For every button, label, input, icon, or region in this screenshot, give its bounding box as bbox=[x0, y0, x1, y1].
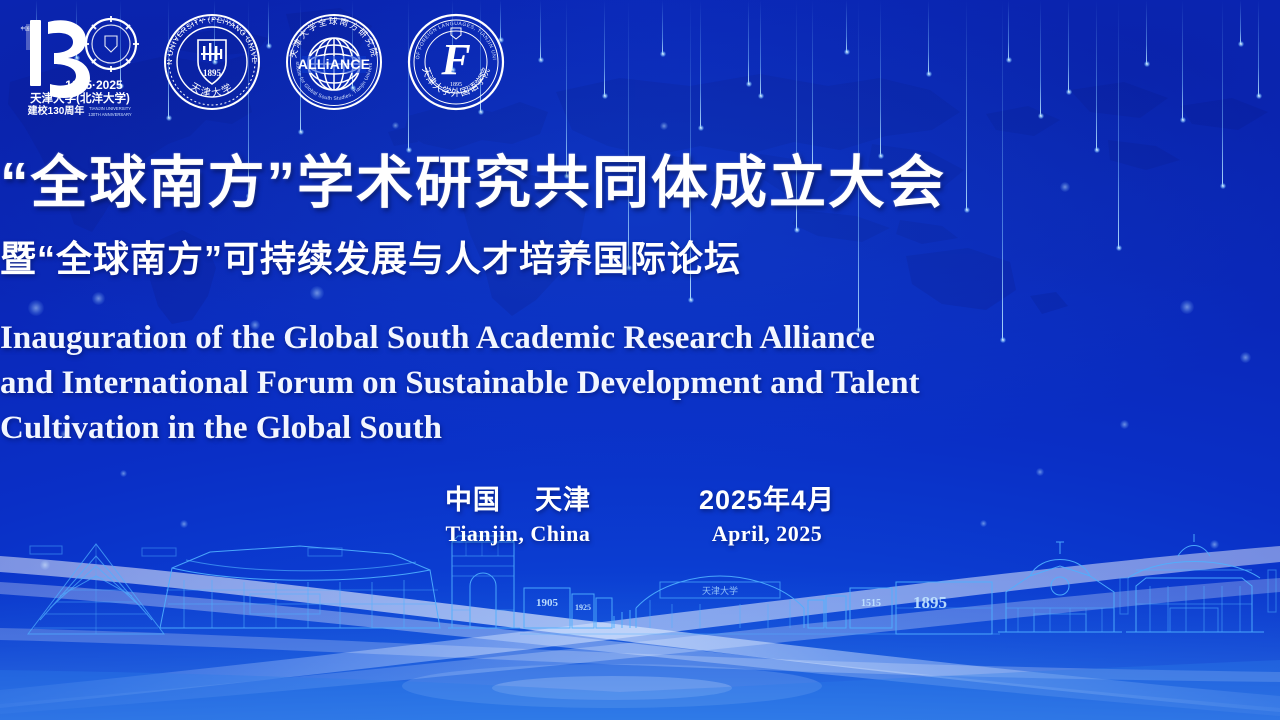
page-title-en: Inauguration of the Global South Academi… bbox=[0, 316, 1280, 451]
page-title-en-line-1: Inauguration of the Global South Academi… bbox=[0, 316, 1280, 361]
event-date-cn: 2025年4月 bbox=[699, 478, 835, 517]
tju-seal-year: 1895 bbox=[203, 68, 222, 78]
anniversary-years: 1895·2025 bbox=[65, 78, 123, 92]
placard-year-1925: 1925 bbox=[575, 603, 591, 612]
placard-year-1905: 1905 bbox=[536, 597, 559, 609]
event-location-en: Tianjin, China bbox=[445, 521, 591, 547]
event-meta: 中国 天津 Tianjin, China 2025年4月 April, 2025 bbox=[0, 478, 1280, 547]
anniversary-line1: 天津大学(北洋大学) bbox=[30, 91, 130, 105]
page-title-en-line-2: and International Forum on Sustainable D… bbox=[0, 361, 1280, 406]
skyline-gate-caption: 天津大学 bbox=[702, 585, 738, 596]
event-location-cn: 中国 天津 bbox=[445, 478, 591, 517]
anniversary-sub-en-1: TIANJIN UNIVERSITY bbox=[89, 106, 131, 111]
anniversary-sub-en-2: 130TH ANNIVERSARY bbox=[88, 112, 132, 117]
anniversary-emblem-cn: 中国天津 bbox=[21, 25, 39, 32]
conference-banner: 1905 1925 1515 1895 天津大学 bbox=[0, 0, 1280, 720]
anniversary-line2: 建校130周年 bbox=[27, 104, 85, 117]
logo-global-south-alliance: 天津大学全球南方研究院 Institute for Global South S… bbox=[282, 10, 386, 114]
logo-tianjin-university-130th-anniversary: 中国天津 1895·2025 天津大学(北洋大学) 建校130周年 TIANJI… bbox=[18, 6, 142, 118]
event-date: 2025年4月 April, 2025 bbox=[699, 478, 835, 547]
alliance-wordmark: ALLiANCE bbox=[298, 56, 370, 72]
logo-tianjin-university-seal: TIANJIN UNIVERSITY (PEIYANG UNIVERSITY) … bbox=[160, 10, 264, 114]
sfl-monogram: F bbox=[440, 35, 470, 84]
logo-row: 中国天津 1895·2025 天津大学(北洋大学) 建校130周年 TIANJI… bbox=[18, 6, 508, 118]
logo-school-of-foreign-languages: SCHOOL OF FOREIGN LANGUAGES, TIANJIN UNI… bbox=[404, 10, 508, 114]
page-title-cn: “全球南方”学术研究共同体成立大会 bbox=[0, 137, 1280, 219]
placard-year-1515: 1515 bbox=[861, 598, 881, 609]
page-subtitle-cn: 暨“全球南方”可持续发展与人才培养国际论坛 bbox=[0, 230, 1280, 282]
page-title-en-line-3: Cultivation in the Global South bbox=[0, 406, 1280, 451]
event-date-en: April, 2025 bbox=[699, 521, 835, 547]
event-location: 中国 天津 Tianjin, China bbox=[445, 478, 591, 547]
sfl-year: 1895 bbox=[450, 82, 462, 88]
placard-year-1895: 1895 bbox=[913, 593, 947, 612]
